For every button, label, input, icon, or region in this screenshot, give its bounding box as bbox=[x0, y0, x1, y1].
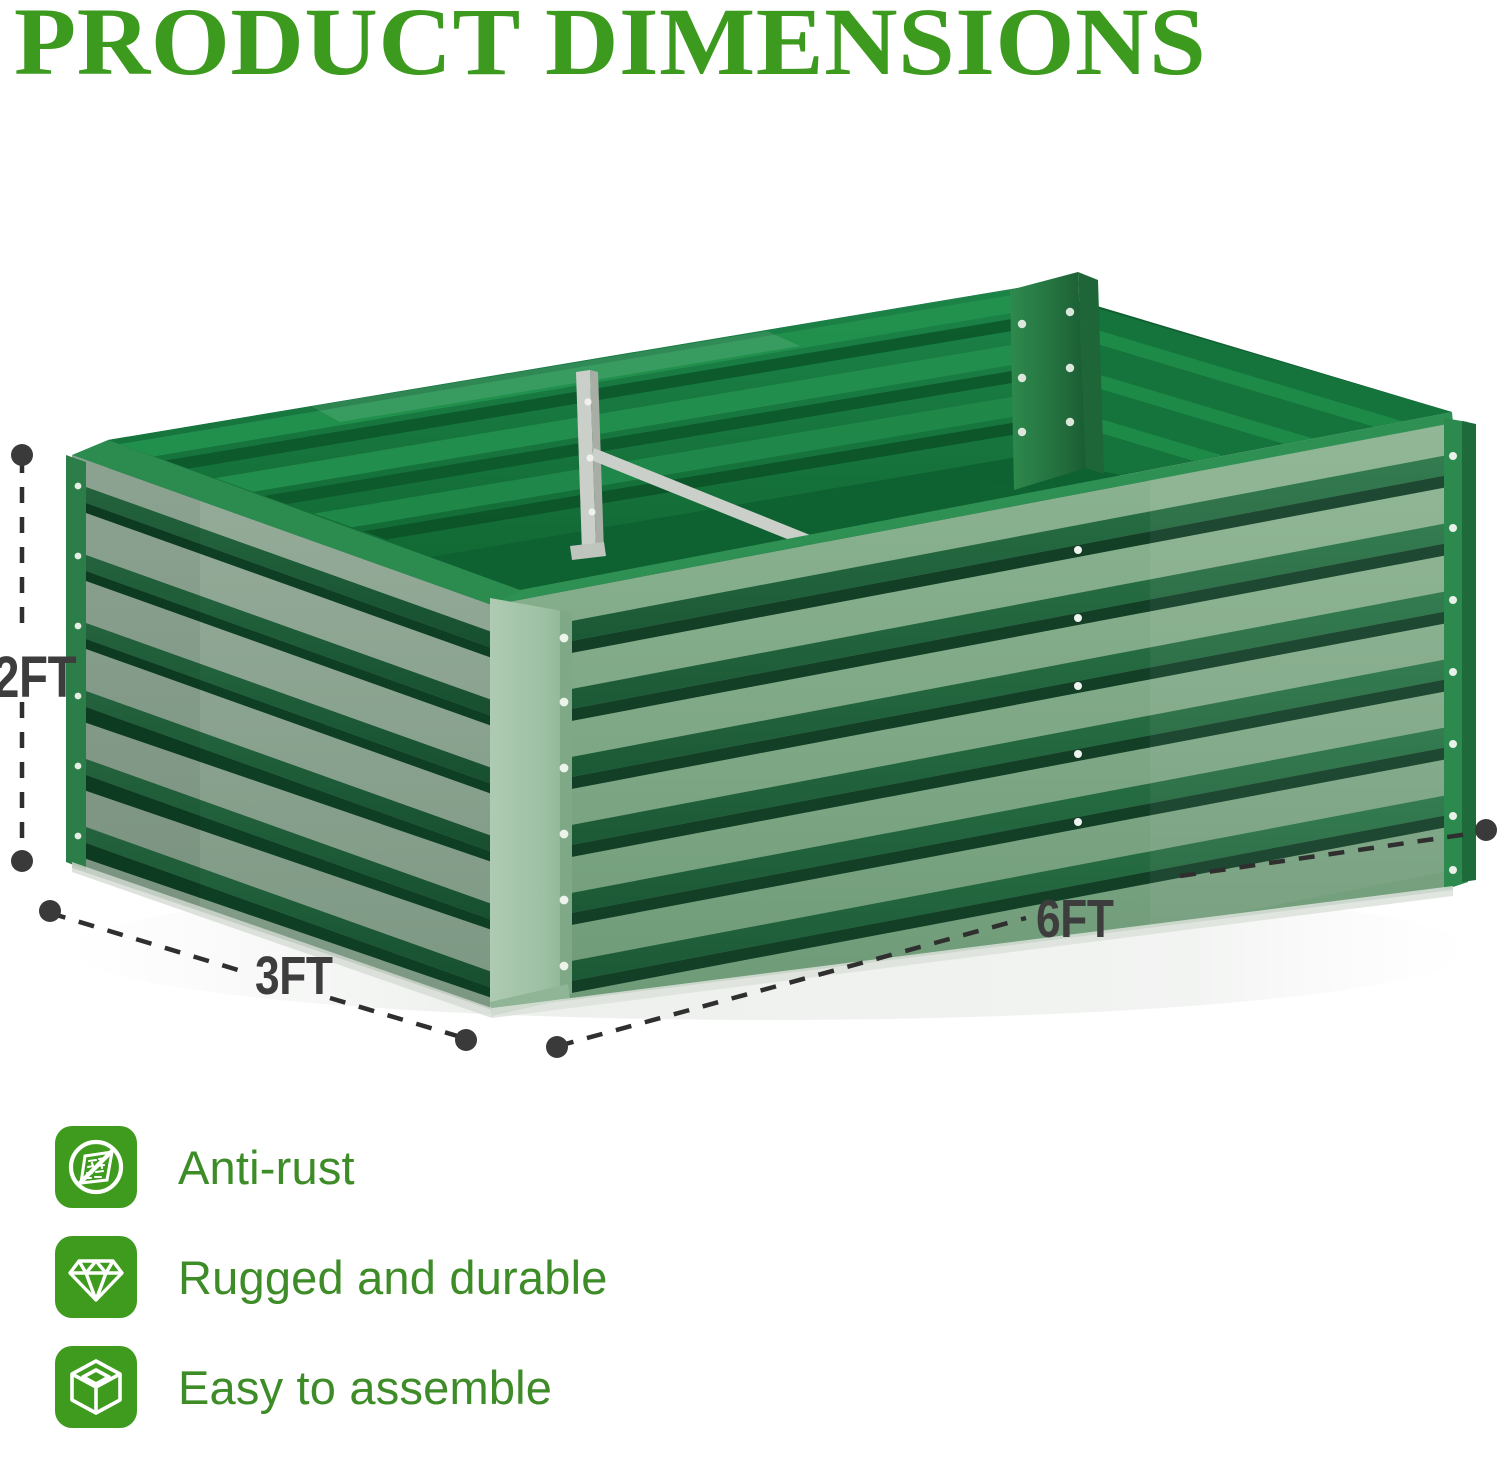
assembly-cube-icon bbox=[55, 1346, 137, 1428]
diamond-gem-icon bbox=[55, 1236, 137, 1318]
page-title: PRODUCT DIMENSIONS bbox=[14, 0, 1500, 92]
feature-label: Rugged and durable bbox=[178, 1250, 608, 1305]
feature-item-rugged-durable: Rugged and durable bbox=[55, 1222, 955, 1332]
feature-item-anti-rust: Anti-rust bbox=[55, 1112, 955, 1222]
feature-list: Anti-rust Rugged and du bbox=[55, 1112, 955, 1442]
no-rust-icon bbox=[55, 1126, 137, 1208]
dimension-label-height: 2FT bbox=[0, 644, 76, 711]
feature-label: Anti-rust bbox=[178, 1140, 355, 1195]
feature-item-easy-assemble: Easy to assemble bbox=[55, 1332, 955, 1442]
dimension-label-width: 6FT bbox=[1036, 888, 1114, 950]
feature-label: Easy to assemble bbox=[178, 1360, 552, 1415]
corner-post-front-right bbox=[1444, 418, 1476, 890]
product-illustration bbox=[0, 250, 1500, 1080]
corner-post-front-left[interactable] bbox=[490, 598, 572, 1016]
dimension-label-depth: 3FT bbox=[255, 945, 333, 1007]
corner-post-back-right bbox=[1010, 272, 1104, 490]
